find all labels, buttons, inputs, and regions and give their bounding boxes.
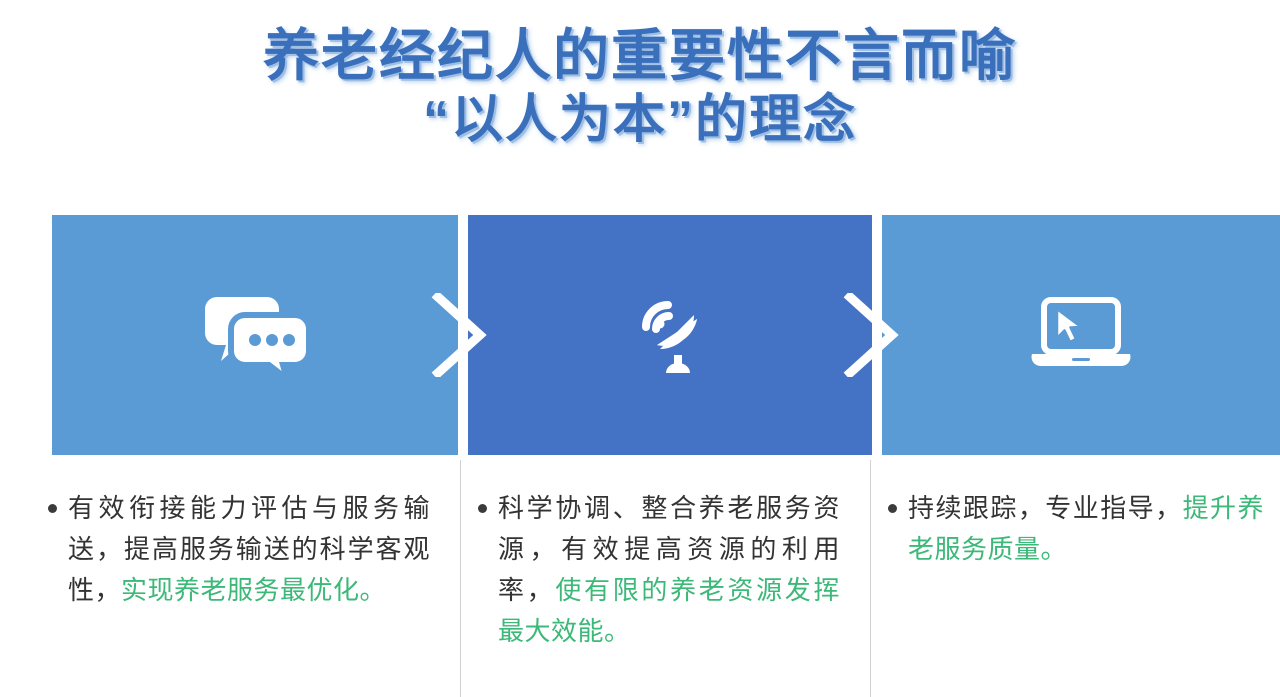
description-text-2: 科学协调、整合养老服务资源，有效提高资源的利用率，使有限的养老资源发挥最大效能。 [498, 488, 840, 652]
process-panel-1[interactable] [52, 215, 458, 455]
description-column-1: 有效衔接能力评估与服务输送，提高服务输送的科学客观性，实现养老服务最优化。 [0, 488, 460, 697]
description-column-2: 科学协调、整合养老服务资源，有效提高资源的利用率，使有限的养老资源发挥最大效能。 [460, 488, 870, 697]
process-panel-3[interactable] [882, 215, 1280, 455]
bullet-dot-icon [888, 504, 897, 513]
laptop-cursor-icon [1021, 280, 1141, 390]
page-title-line-2: “以人为本”的理念 [0, 92, 1280, 148]
process-panel-strip [52, 215, 1280, 455]
bullet-dot-icon [48, 504, 57, 513]
satellite-dish-icon [610, 280, 730, 390]
description-text-1: 有效衔接能力评估与服务输送，提高服务输送的科学客观性，实现养老服务最优化。 [68, 488, 430, 611]
list-item: 科学协调、整合养老服务资源，有效提高资源的利用率，使有限的养老资源发挥最大效能。 [478, 488, 840, 652]
panel-gap-2 [872, 215, 882, 455]
speech-bubbles-icon [195, 280, 315, 390]
panel-gap-1 [458, 215, 468, 455]
description-text-3: 持续跟踪，专业指导，提升养老服务质量。 [908, 488, 1264, 570]
list-item: 持续跟踪，专业指导，提升养老服务质量。 [888, 488, 1264, 570]
bullet-dot-icon [478, 504, 487, 513]
page-title: 养老经纪人的重要性不言而喻 “以人为本”的理念 [0, 0, 1280, 149]
page-title-line-1: 养老经纪人的重要性不言而喻 [0, 26, 1280, 86]
description-plain-3: 持续跟踪，专业指导， [908, 493, 1183, 523]
description-highlight-1: 实现养老服务最优化。 [121, 575, 386, 605]
list-item: 有效衔接能力评估与服务输送，提高服务输送的科学客观性，实现养老服务最优化。 [48, 488, 430, 611]
description-column-3: 持续跟踪，专业指导，提升养老服务质量。 [870, 488, 1280, 697]
description-columns: 有效衔接能力评估与服务输送，提高服务输送的科学客观性，实现养老服务最优化。 科学… [0, 488, 1280, 697]
process-panel-2[interactable] [468, 215, 872, 455]
